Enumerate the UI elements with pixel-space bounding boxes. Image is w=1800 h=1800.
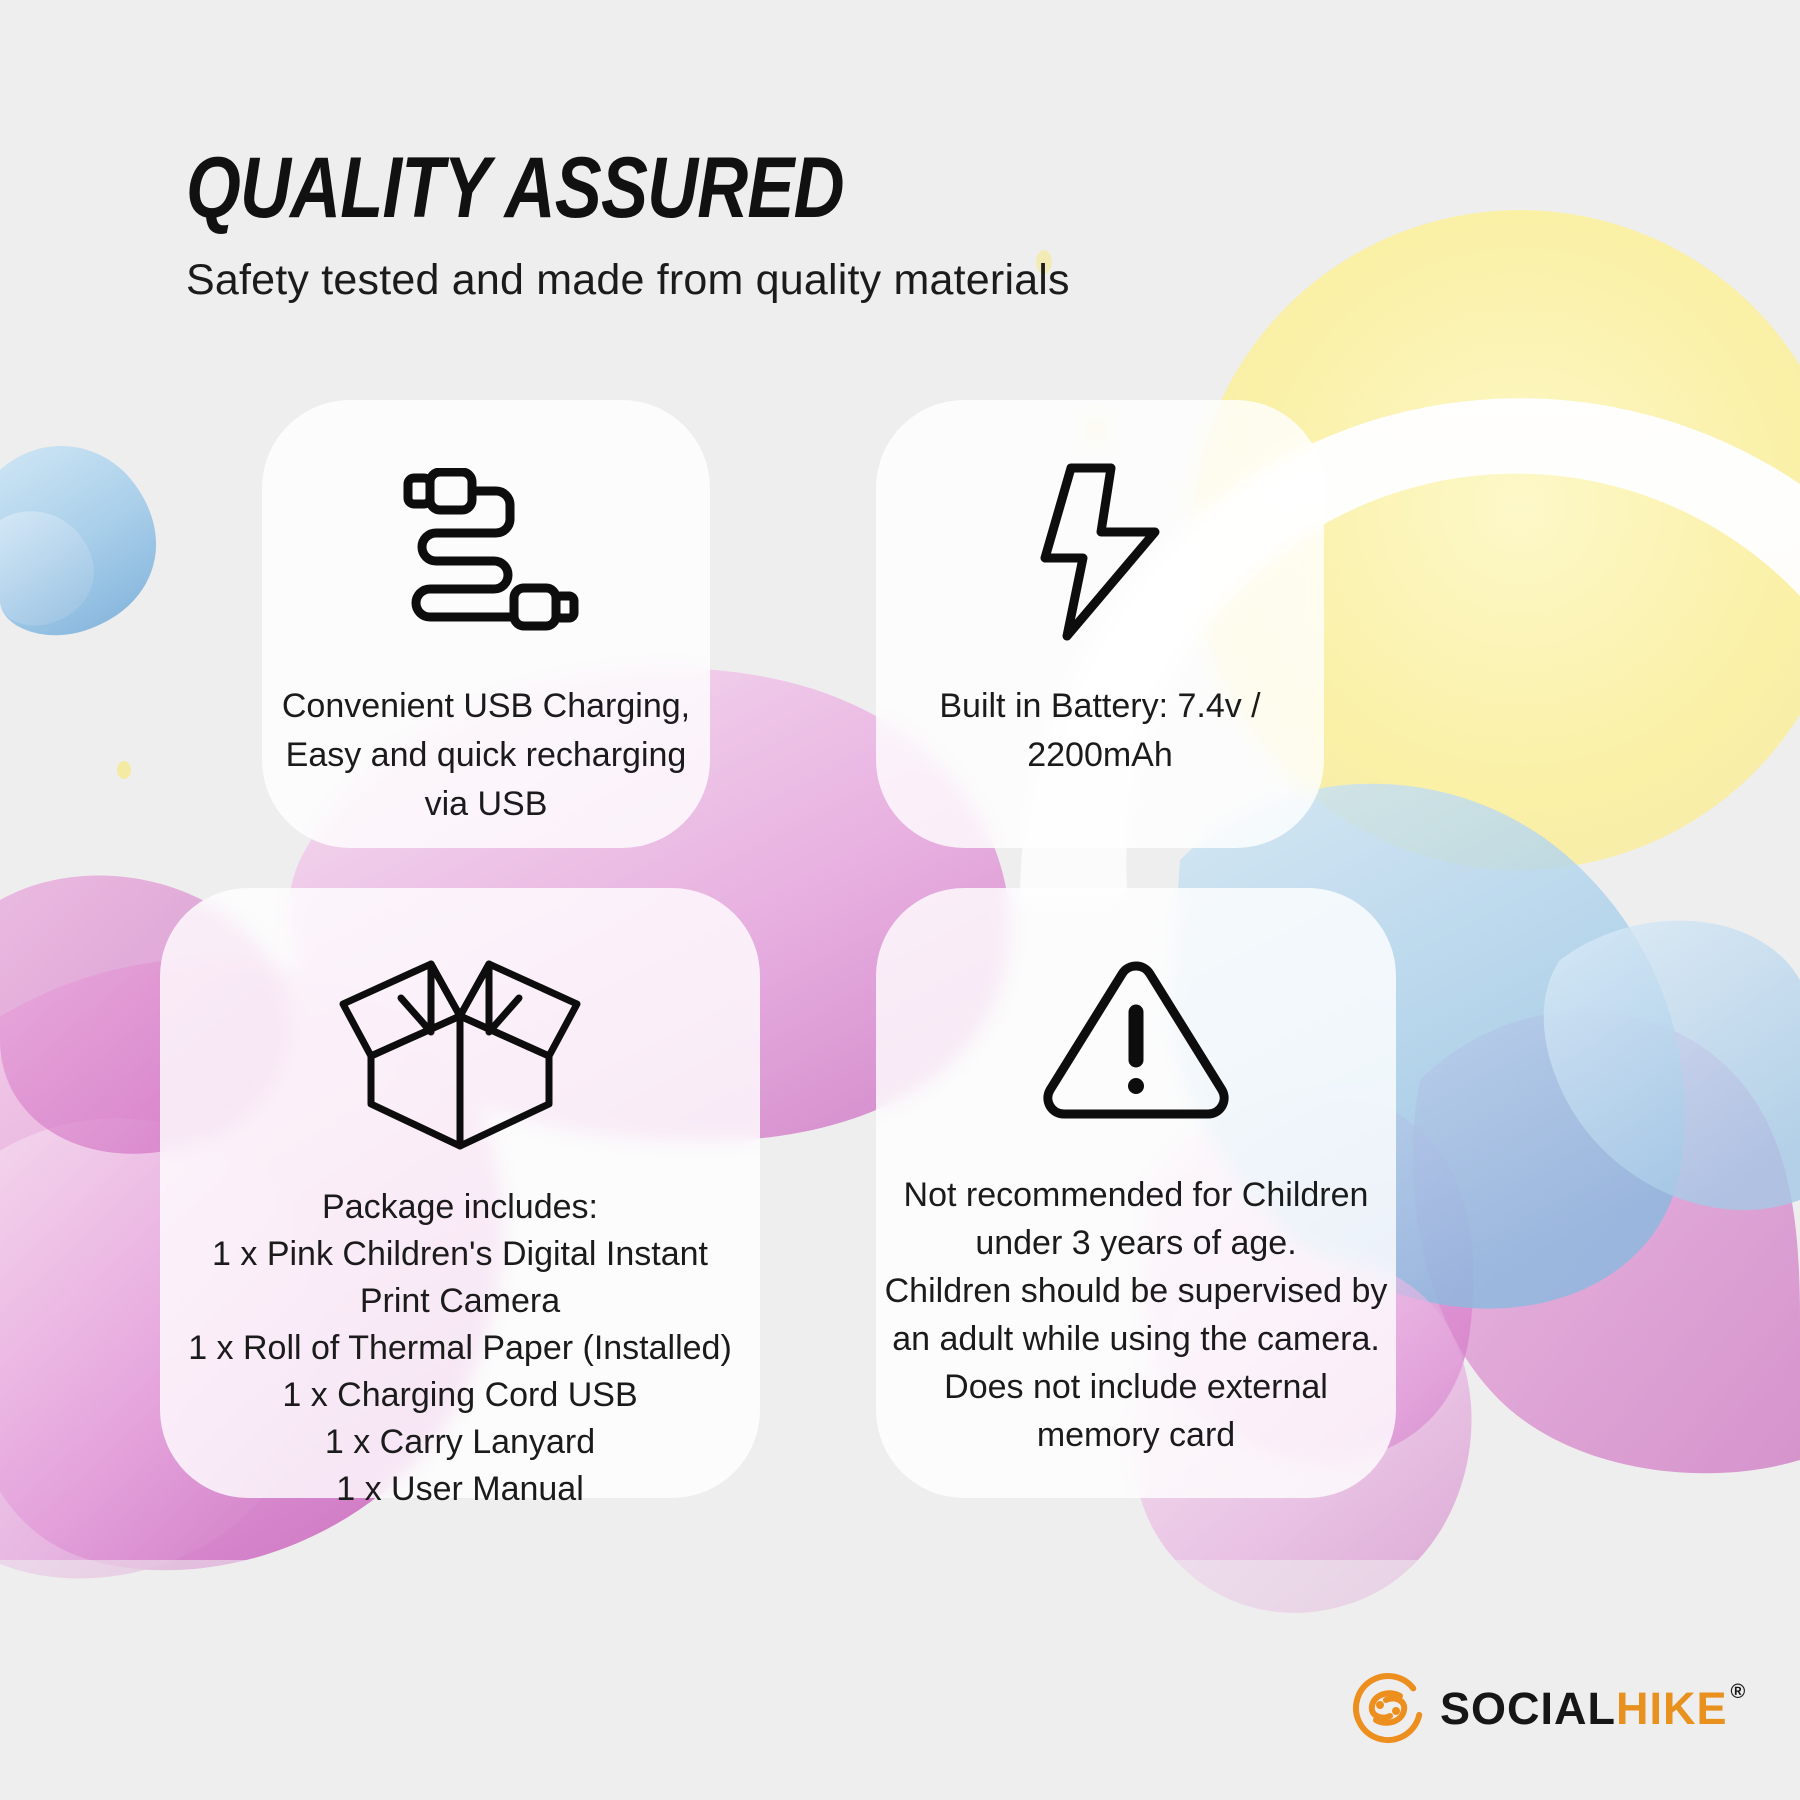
card-text-battery: Built in Battery: 7.4v / 2200mAh [935,682,1264,780]
socialhike-swirl-icon [1352,1672,1424,1744]
infographic-canvas: QUALITY ASSURED Safety tested and made f… [0,0,1800,1800]
warning-triangle-icon [1036,950,1236,1125]
feature-card-warning: Not recommended for Children under 3 yea… [876,888,1396,1498]
page-subtitle: Safety tested and made from quality mate… [186,254,1186,306]
card-text-warning: Not recommended for Children under 3 yea… [881,1171,1392,1459]
feature-card-package: Package includes: 1 x Pink Children's Di… [160,888,760,1498]
socialhike-wordmark: SOCIALHIKE® [1440,1686,1746,1731]
open-box-icon [335,940,585,1150]
lightning-bolt-icon [1035,462,1165,642]
yellow-speck [117,761,131,779]
usb-cable-icon [386,468,586,638]
registered-mark: ® [1731,1682,1747,1702]
socialhike-logo: SOCIALHIKE® [1352,1672,1746,1744]
feature-card-battery: Built in Battery: 7.4v / 2200mAh [876,400,1324,848]
feature-card-usb-charging: Convenient USB Charging, Easy and quick … [262,400,710,848]
logo-text-social: SOCIAL [1440,1686,1616,1731]
header: QUALITY ASSURED Safety tested and made f… [186,140,1186,306]
page-title: QUALITY ASSURED [186,140,1006,236]
card-text-usb-charging: Convenient USB Charging, Easy and quick … [278,682,694,829]
card-text-package: Package includes: 1 x Pink Children's Di… [184,1184,736,1513]
logo-text-hike: HIKE [1616,1686,1728,1731]
